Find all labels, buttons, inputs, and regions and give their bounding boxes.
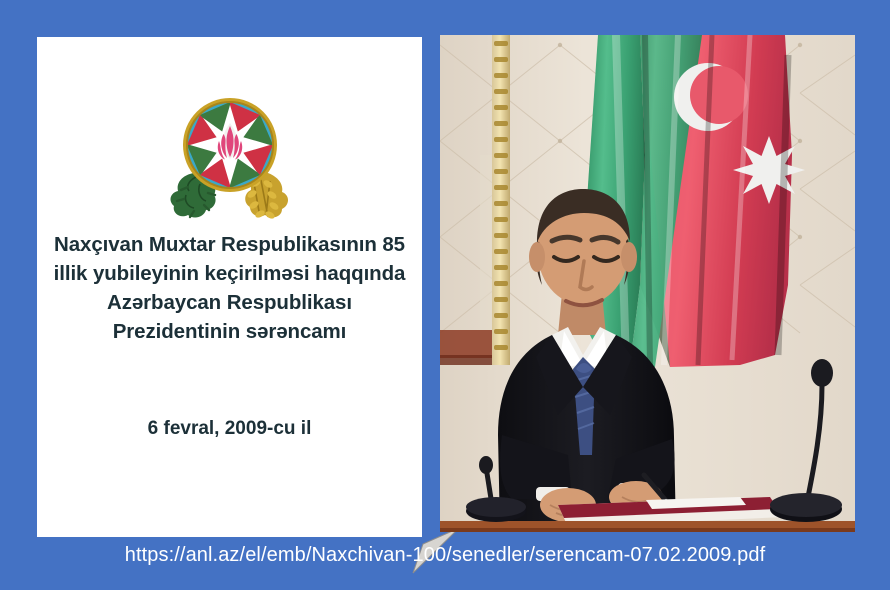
slide-canvas: Naxçıvan Muxtar Respublikasının 85 illik… bbox=[0, 0, 890, 590]
azerbaijan-state-emblem-icon bbox=[164, 87, 296, 224]
title-line-4: Prezidentinin sərəncamı bbox=[45, 317, 414, 346]
title-line-3: Azərbaycan Respublikası bbox=[45, 288, 414, 317]
source-url-bar: https://anl.az/el/emb/Naxchivan-100/sene… bbox=[0, 538, 890, 572]
document-title: Naxçıvan Muxtar Respublikasının 85 illik… bbox=[45, 230, 414, 346]
title-line-2: illik yubileyinin keçirilməsi haqqında bbox=[45, 259, 414, 288]
president-signing-photo bbox=[440, 35, 855, 532]
azerbaijan-flag bbox=[586, 35, 805, 371]
document-card: Naxçıvan Muxtar Respublikasının 85 illik… bbox=[37, 37, 422, 537]
document-date: 6 fevral, 2009-cu il bbox=[45, 418, 414, 440]
title-line-1: Naxçıvan Muxtar Respublikasının 85 bbox=[45, 230, 414, 259]
emblem-container bbox=[37, 85, 422, 225]
source-url-text[interactable]: https://anl.az/el/emb/Naxchivan-100/sene… bbox=[125, 544, 766, 567]
